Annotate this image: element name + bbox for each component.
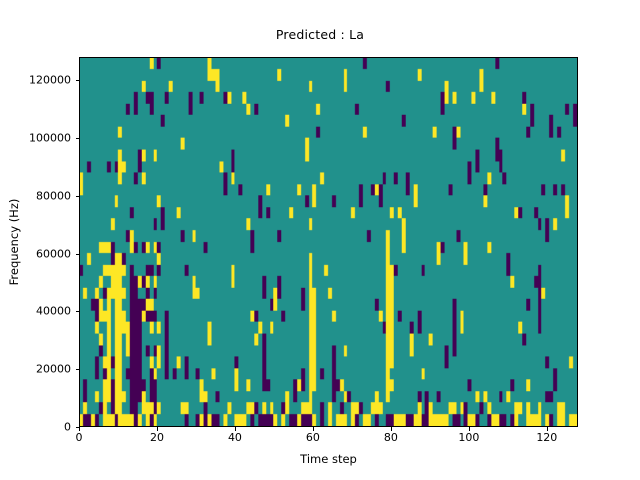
y-tick-label: 20000 [36,363,71,376]
y-tick-label: 40000 [36,305,71,318]
y-tick [76,196,80,197]
x-tick [157,427,158,431]
x-tick-label: 120 [536,431,557,444]
y-tick [76,80,80,81]
heatmap-axes [79,57,578,427]
x-tick-label: 80 [384,431,398,444]
x-tick [79,427,80,431]
x-tick [313,427,314,431]
x-tick [547,427,548,431]
spectrogram-heatmap [80,58,577,426]
y-tick [76,427,80,428]
chart-title: Predicted : La [0,27,640,42]
x-tick [469,427,470,431]
x-tick-label: 0 [76,431,83,444]
y-tick [76,311,80,312]
x-axis-label: Time step [79,452,578,466]
x-tick-label: 100 [458,431,479,444]
y-tick-label: 100000 [29,131,71,144]
y-tick [76,138,80,139]
y-axis-label: Frequency (Hz) [7,199,21,286]
matplotlib-figure: Predicted : La 020406080100120 020000400… [0,0,640,480]
x-tick-label: 20 [150,431,164,444]
x-tick [391,427,392,431]
y-tick-label: 60000 [36,247,71,260]
y-tick-label: 80000 [36,189,71,202]
y-tick-label: 120000 [29,74,71,87]
x-tick-label: 60 [306,431,320,444]
y-tick [76,369,80,370]
y-tick [76,254,80,255]
x-tick-label: 40 [228,431,242,444]
x-tick [235,427,236,431]
y-tick-label: 0 [64,421,71,434]
